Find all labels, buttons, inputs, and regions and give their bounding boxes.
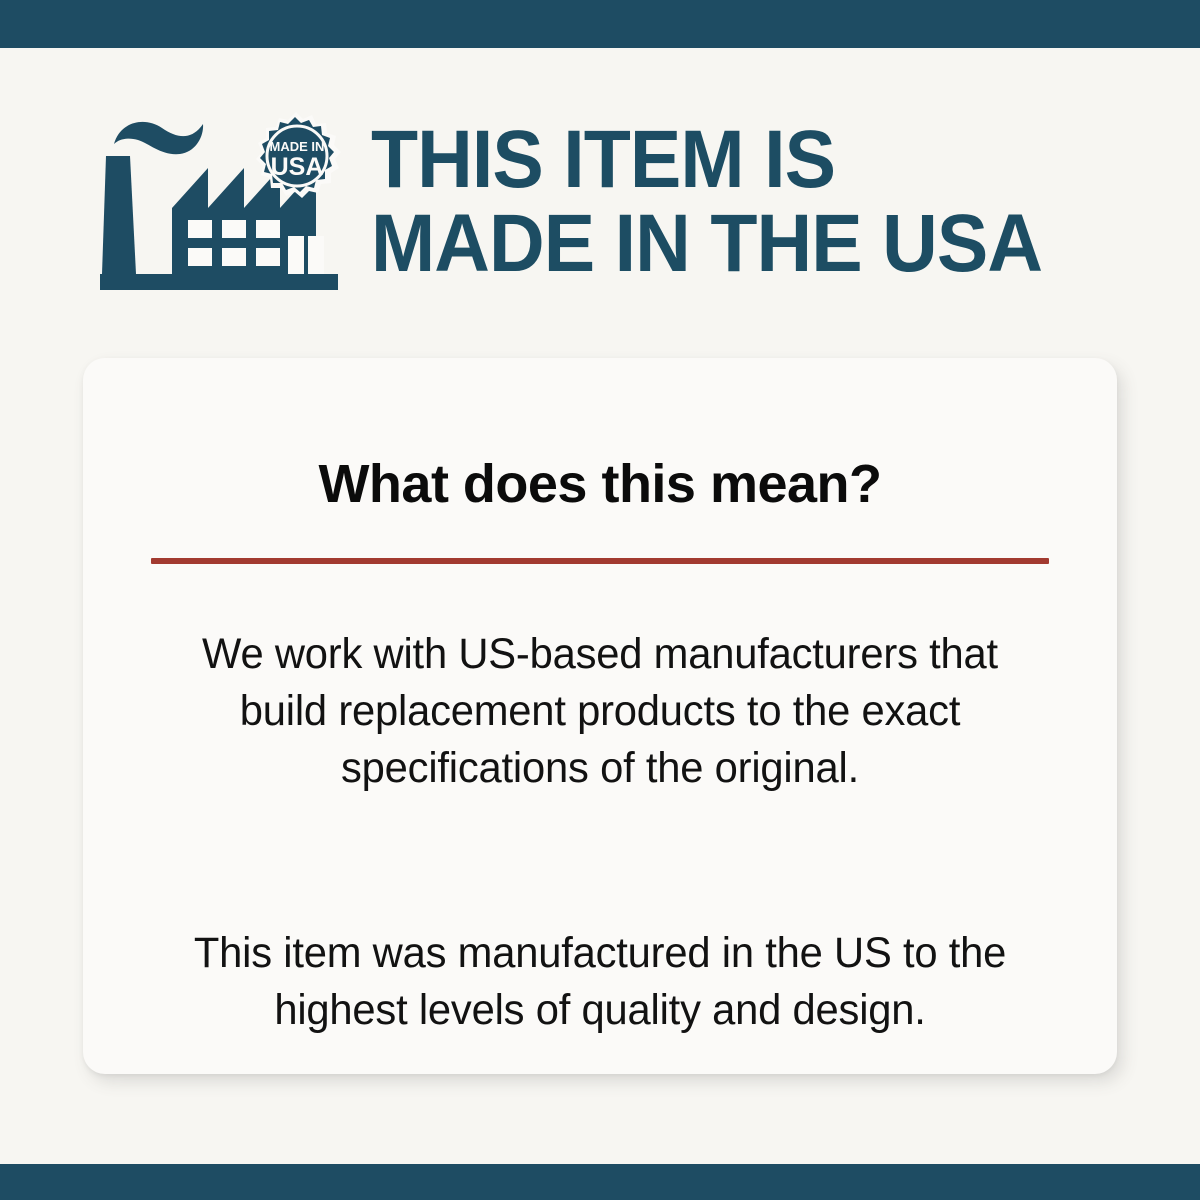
badge-usa-text: USA — [271, 153, 324, 181]
card-heading: What does this mean? — [151, 454, 1049, 514]
top-brand-band — [0, 0, 1200, 48]
card-paragraph-2: This item was manufactured in the US to … — [164, 925, 1035, 1039]
factory-icon: MADE IN USA — [100, 108, 345, 293]
content-stage: MADE IN USA THIS ITEM IS MADE IN THE USA… — [0, 48, 1200, 1164]
badge-made-in-text: MADE IN — [270, 139, 325, 154]
masthead: MADE IN USA THIS ITEM IS MADE IN THE USA — [0, 100, 1200, 300]
card-body: We work with US-based manufacturers that… — [151, 626, 1049, 1039]
card-divider — [151, 558, 1049, 564]
card-paragraph-1: We work with US-based manufacturers that… — [164, 626, 1035, 797]
page-root: MADE IN USA THIS ITEM IS MADE IN THE USA… — [0, 0, 1200, 1200]
bottom-brand-band — [0, 1164, 1200, 1200]
info-card: What does this mean? We work with US-bas… — [83, 358, 1117, 1074]
page-title: THIS ITEM IS MADE IN THE USA — [371, 118, 1042, 286]
